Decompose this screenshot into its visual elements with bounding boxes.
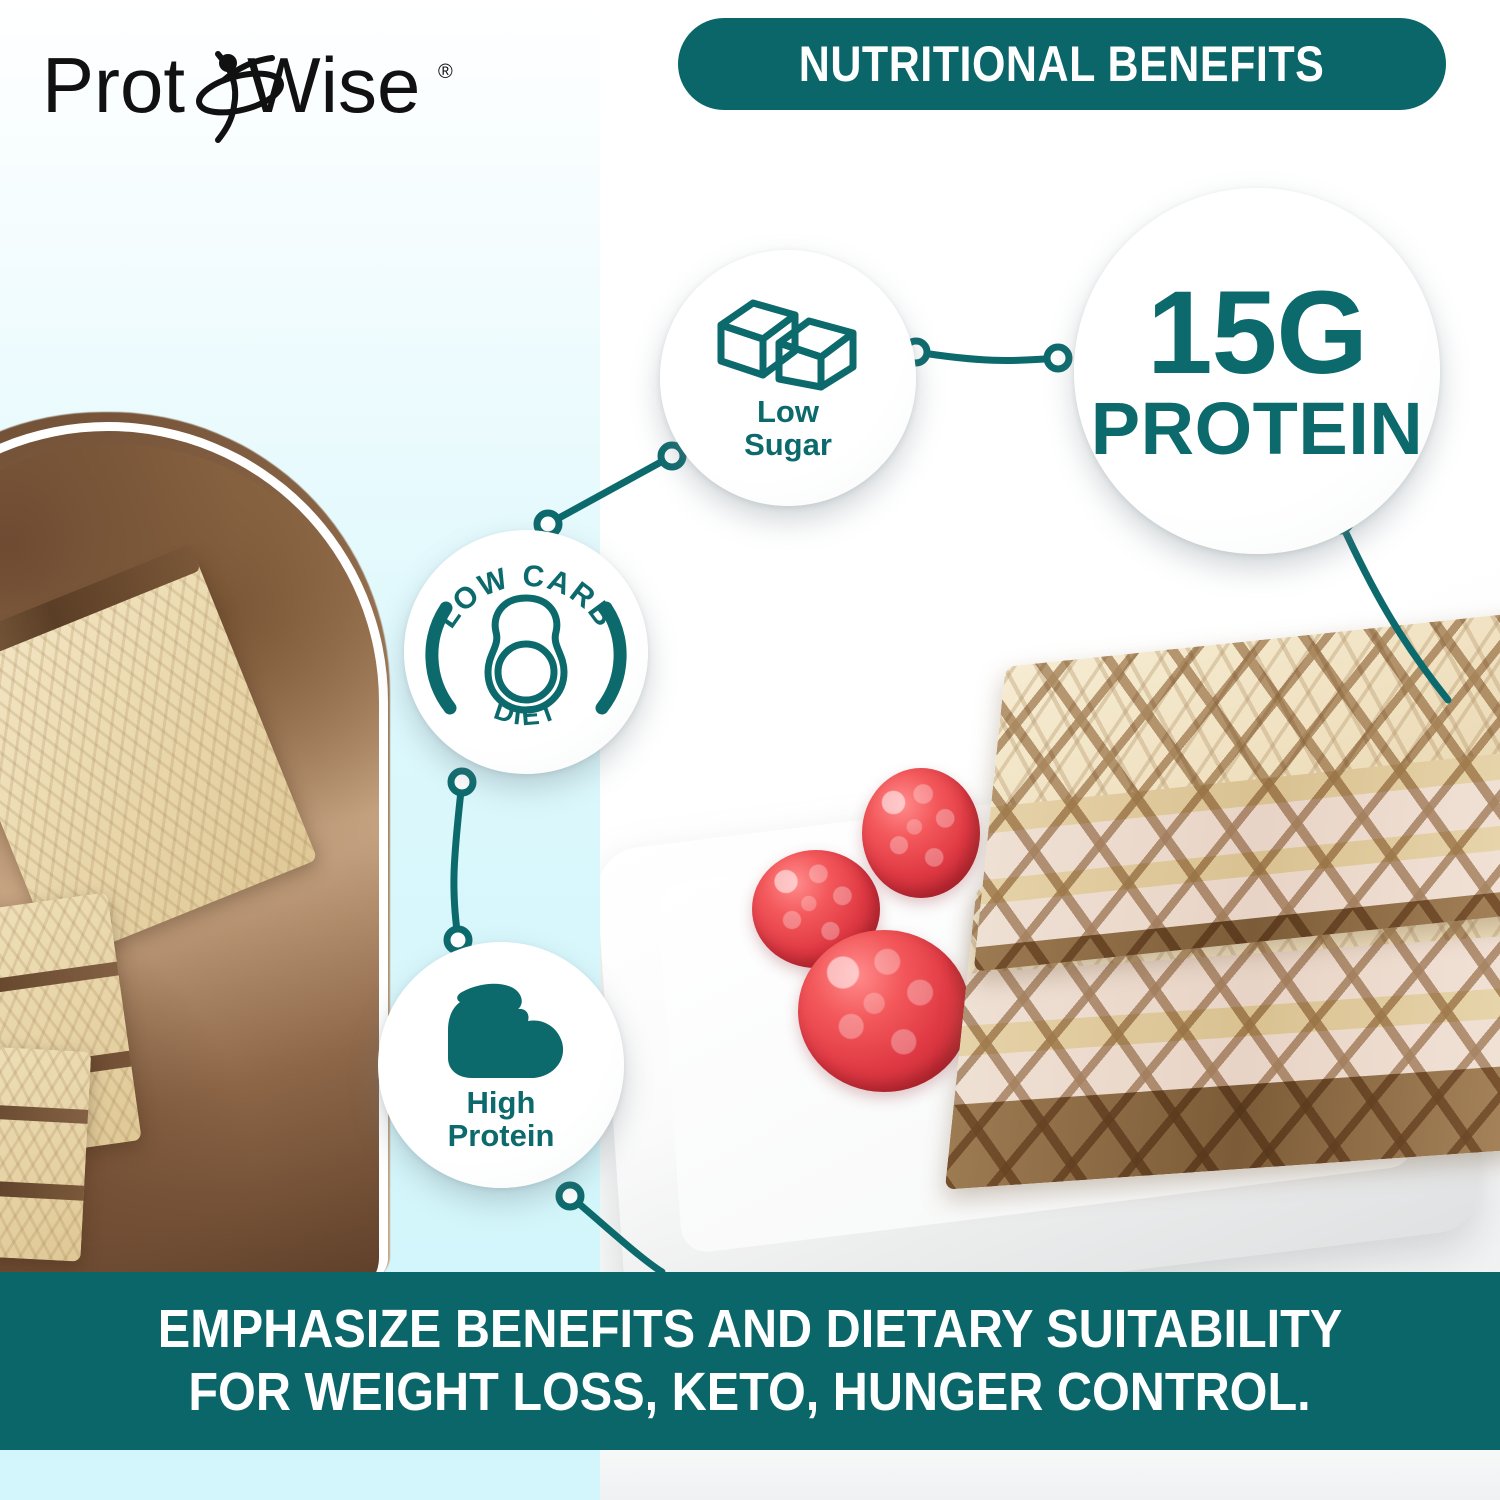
flexed-bicep-icon [426, 978, 576, 1086]
low-sugar-label: LowSugar [744, 395, 832, 462]
badge-high-protein[interactable]: HighProtein [378, 942, 624, 1188]
svg-text:®: ® [438, 61, 453, 83]
header-title-pill: NUTRITIONAL BENEFITS [678, 18, 1446, 110]
banner-line-2: FOR WEIGHT LOSS, KETO, HUNGER CONTROL. [189, 1361, 1311, 1424]
protiwise-logo-icon: Prot Wise ® [42, 36, 472, 146]
footer-strip [0, 1450, 1500, 1500]
raspberry [798, 930, 970, 1092]
badge-protein-amount[interactable]: 15G PROTEIN [1074, 188, 1440, 554]
svg-text:Wise: Wise [247, 41, 420, 129]
svg-text:Prot: Prot [42, 41, 185, 129]
high-protein-label: HighProtein [448, 1086, 555, 1153]
sugar-cubes-icon [713, 295, 863, 391]
badge-low-carb-diet[interactable]: LOW CARB DIET [404, 530, 648, 774]
protein-amount-value: 15G [1147, 276, 1367, 392]
footer-strip-right [600, 1450, 1500, 1500]
banner-line-1: EMPHASIZE BENEFITS AND DIETARY SUITABILI… [158, 1298, 1342, 1361]
poster-canvas: Prot Wise ® NUTRITIONAL BENEFITS [0, 0, 1500, 1500]
wafer-bar-top [974, 608, 1500, 972]
bottom-banner: EMPHASIZE BENEFITS AND DIETARY SUITABILI… [0, 1272, 1500, 1450]
raspberry [862, 768, 980, 898]
footer-strip-left [0, 1450, 600, 1500]
protein-amount-label: PROTEIN [1091, 392, 1423, 466]
page-title: NUTRITIONAL BENEFITS [799, 35, 1325, 93]
right-product-photo [600, 600, 1500, 1272]
badge-low-sugar[interactable]: LowSugar [660, 250, 916, 506]
low-carb-diet-seal: LOW CARB DIET [404, 530, 648, 774]
brand-logo[interactable]: Prot Wise ® [42, 36, 472, 146]
left-product-photo [0, 400, 390, 1280]
photo-arch-white-outline [0, 422, 388, 1282]
